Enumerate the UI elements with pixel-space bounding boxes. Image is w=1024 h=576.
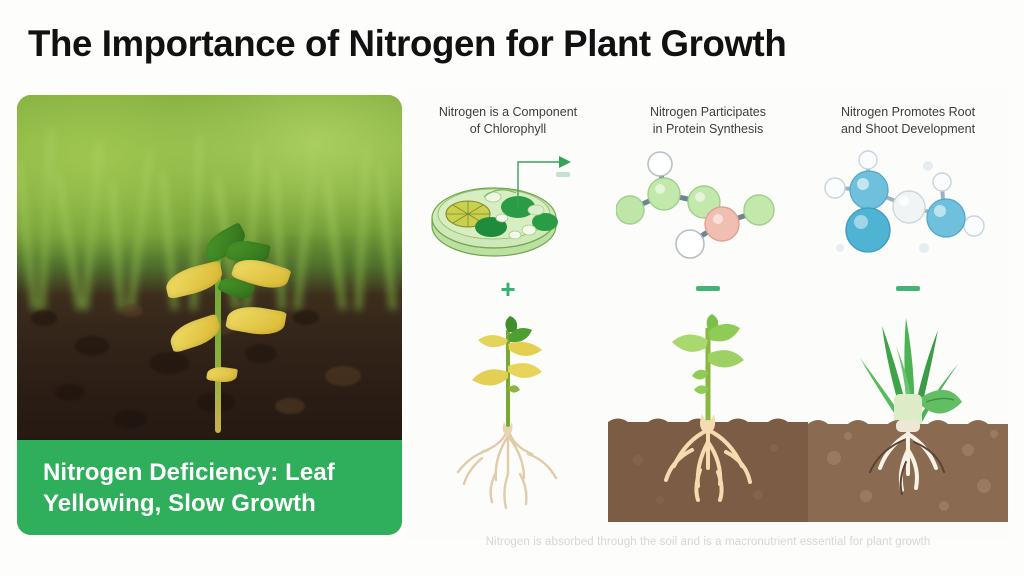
separator-plus: + [500, 280, 515, 298]
plant-illustration-deficient [408, 310, 608, 522]
column-heading-line-1: Nitrogen Promotes Root [814, 104, 1002, 121]
caption-line-1: Nitrogen Deficiency: Leaf [43, 457, 376, 488]
plant-illustration-healthy [608, 310, 808, 522]
footer-note: Nitrogen is absorbed through the soil an… [408, 536, 1008, 548]
column-heading: Nitrogen Promotes Root and Shoot Develop… [814, 104, 1002, 138]
concept-column-root-shoot: Nitrogen Promotes Root and Shoot Develop… [808, 88, 1008, 540]
column-heading-line-2: and Shoot Development [814, 121, 1002, 138]
column-heading: Nitrogen Participates in Protein Synthes… [614, 104, 802, 138]
column-heading-line-1: Nitrogen is a Component [414, 104, 602, 121]
concept-panel: Nitrogen is a Component of Chlorophyll [408, 88, 1008, 540]
amino-acid-molecule-diagram [616, 150, 800, 260]
concept-columns: Nitrogen is a Component of Chlorophyll [408, 88, 1008, 540]
blue-molecule-diagram [816, 150, 1000, 260]
seedling-photo [17, 95, 402, 440]
column-heading: Nitrogen is a Component of Chlorophyll [414, 104, 602, 138]
separator-dash: — [896, 286, 920, 291]
concept-column-protein: Nitrogen Participates in Protein Synthes… [608, 88, 808, 540]
seedling-illustration [167, 225, 337, 440]
photo-card: Nitrogen Deficiency: Leaf Yellowing, Slo… [17, 95, 402, 535]
page-title: The Importance of Nitrogen for Plant Gro… [28, 16, 986, 72]
plant-illustration-grass [808, 310, 1008, 522]
chloroplast-cell-diagram [416, 150, 600, 260]
separator-dash: — [696, 286, 720, 291]
caption-line-2: Yellowing, Slow Growth [43, 488, 376, 519]
column-heading-line-2: of Chlorophyll [414, 121, 602, 138]
concept-column-chlorophyll: Nitrogen is a Component of Chlorophyll [408, 88, 608, 540]
photo-caption: Nitrogen Deficiency: Leaf Yellowing, Slo… [17, 440, 402, 535]
infographic-page: The Importance of Nitrogen for Plant Gro… [0, 0, 1024, 576]
column-heading-line-2: in Protein Synthesis [614, 121, 802, 138]
column-heading-line-1: Nitrogen Participates [614, 104, 802, 121]
